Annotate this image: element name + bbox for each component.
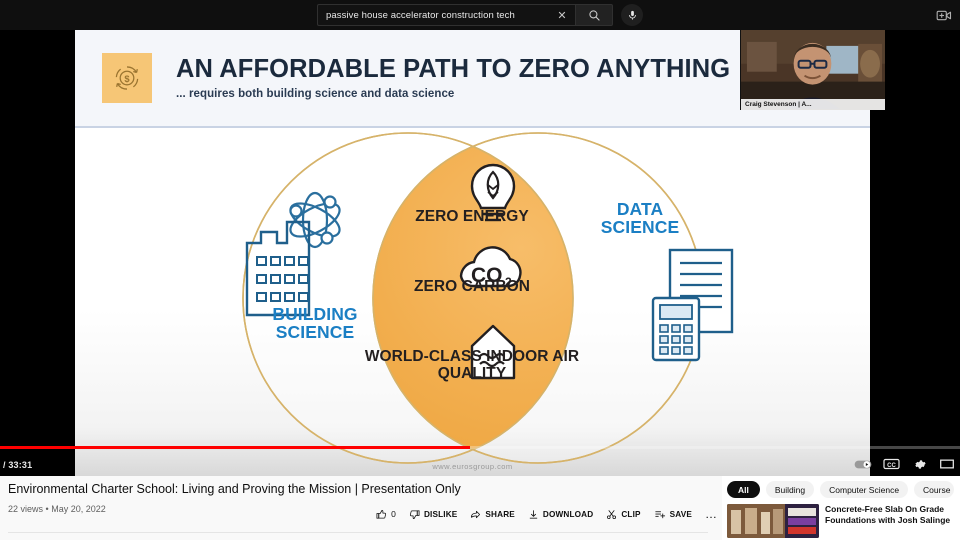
svg-text:CC: CC bbox=[887, 463, 896, 469]
closed-captions-icon: CC bbox=[883, 458, 900, 470]
save-label: SAVE bbox=[670, 510, 692, 519]
presenter-webcam-overlay: Craig Stevenson | A... bbox=[740, 30, 885, 110]
slide-body: CO 2 BUILDING SCIENCE DATA bbox=[75, 130, 870, 476]
data-science-line1: DATA bbox=[617, 199, 663, 219]
slide-title: AN AFFORDABLE PATH TO ZERO ANYTHING bbox=[176, 56, 730, 83]
microphone-icon bbox=[627, 10, 638, 21]
slide-logo: $ bbox=[102, 53, 152, 103]
presenter-name-label: Craig Stevenson | A... bbox=[741, 99, 885, 110]
create-video-icon bbox=[936, 9, 952, 22]
thumbs-down-icon bbox=[409, 509, 420, 520]
like-button[interactable]: 0 bbox=[376, 509, 396, 520]
stats-separator: • bbox=[46, 504, 49, 514]
dollar-circular-arrows-icon: $ bbox=[110, 61, 144, 95]
share-label: SHARE bbox=[485, 510, 514, 519]
webcam-video-frame bbox=[741, 30, 885, 109]
theater-mode-icon bbox=[940, 458, 954, 470]
slide-subtitle: ... requires both building science and d… bbox=[176, 88, 730, 100]
video-actions: 0 DISLIKE SHARE bbox=[376, 507, 718, 521]
dislike-button[interactable]: DISLIKE bbox=[409, 509, 457, 520]
top-bar: passive house accelerator construction t… bbox=[0, 0, 960, 30]
clear-search-icon[interactable]: ✕ bbox=[555, 8, 569, 22]
download-icon bbox=[528, 509, 539, 520]
scissors-icon bbox=[606, 509, 617, 520]
filter-chip-all[interactable]: All bbox=[727, 481, 760, 498]
filter-chip-building[interactable]: Building bbox=[766, 481, 814, 498]
autoplay-toggle-icon bbox=[854, 459, 872, 470]
dislike-label: DISLIKE bbox=[424, 510, 457, 519]
search-icon bbox=[588, 9, 601, 22]
video-player[interactable]: $ AN AFFORDABLE PATH TO ZERO ANYTHING ..… bbox=[0, 30, 960, 476]
svg-text:$: $ bbox=[124, 74, 130, 84]
autoplay-toggle-button[interactable] bbox=[854, 455, 872, 473]
filter-chip-computer-science[interactable]: Computer Science bbox=[820, 481, 908, 498]
filter-chip-course[interactable]: Course bbox=[914, 481, 954, 498]
calculator-icon bbox=[653, 298, 699, 360]
subtitles-button[interactable]: CC bbox=[882, 455, 900, 473]
search-input[interactable]: passive house accelerator construction t… bbox=[317, 4, 575, 26]
search-area: passive house accelerator construction t… bbox=[317, 4, 643, 26]
related-video-thumbnail[interactable] bbox=[727, 504, 819, 538]
thumbs-up-icon bbox=[376, 509, 387, 520]
player-controls: / 33:31 CC bbox=[0, 449, 960, 476]
venn-diagram: CO 2 bbox=[75, 130, 870, 476]
youtube-watch-page: passive house accelerator construction t… bbox=[0, 0, 960, 540]
divider bbox=[8, 532, 708, 533]
search-button[interactable] bbox=[575, 4, 613, 26]
video-title: Environmental Charter School: Living and… bbox=[8, 482, 708, 498]
slide-header-text: AN AFFORDABLE PATH TO ZERO ANYTHING ... … bbox=[176, 56, 730, 101]
clip-label: CLIP bbox=[621, 510, 640, 519]
related-video-title: Concrete-Free Slab On Grade Foundations … bbox=[825, 504, 956, 538]
building-science-line1: BUILDING bbox=[272, 304, 357, 324]
more-actions-button[interactable]: … bbox=[705, 507, 718, 521]
view-count: 22 views bbox=[8, 504, 43, 514]
player-controls-right: CC bbox=[854, 455, 956, 473]
create-video-button[interactable] bbox=[936, 8, 952, 22]
related-videos-rail: All Building Computer Science Course › bbox=[722, 476, 960, 540]
filter-chips: All Building Computer Science Course › bbox=[722, 476, 960, 498]
time-display: / 33:31 bbox=[3, 460, 32, 470]
settings-button[interactable] bbox=[910, 455, 928, 473]
intersection-label-zero-carbon: ZERO CARBON bbox=[347, 278, 597, 295]
thumbnail-image bbox=[727, 504, 819, 538]
download-label: DOWNLOAD bbox=[543, 510, 593, 519]
share-arrow-icon bbox=[470, 509, 481, 520]
theater-mode-button[interactable] bbox=[938, 455, 956, 473]
save-button[interactable]: SAVE bbox=[654, 509, 692, 520]
data-science-line2: SCIENCE bbox=[601, 217, 679, 237]
voice-search-button[interactable] bbox=[621, 4, 643, 26]
download-button[interactable]: DOWNLOAD bbox=[528, 509, 593, 520]
venn-label-building-science: BUILDING SCIENCE bbox=[245, 305, 385, 342]
like-count: 0 bbox=[391, 509, 396, 519]
related-video-item[interactable]: Concrete-Free Slab On Grade Foundations … bbox=[722, 498, 960, 538]
clip-button[interactable]: CLIP bbox=[606, 509, 640, 520]
search-input-value: passive house accelerator construction t… bbox=[326, 10, 555, 21]
save-plus-icon bbox=[654, 509, 666, 520]
intersection-label-indoor-air-quality: WORLD-CLASS INDOOR AIR QUALITY bbox=[347, 348, 597, 383]
building-science-line2: SCIENCE bbox=[276, 322, 354, 342]
gear-icon bbox=[913, 458, 926, 471]
intersection-label-zero-energy: ZERO ENERGY bbox=[347, 208, 597, 225]
publish-date: May 20, 2022 bbox=[51, 504, 106, 514]
share-button[interactable]: SHARE bbox=[470, 509, 514, 520]
